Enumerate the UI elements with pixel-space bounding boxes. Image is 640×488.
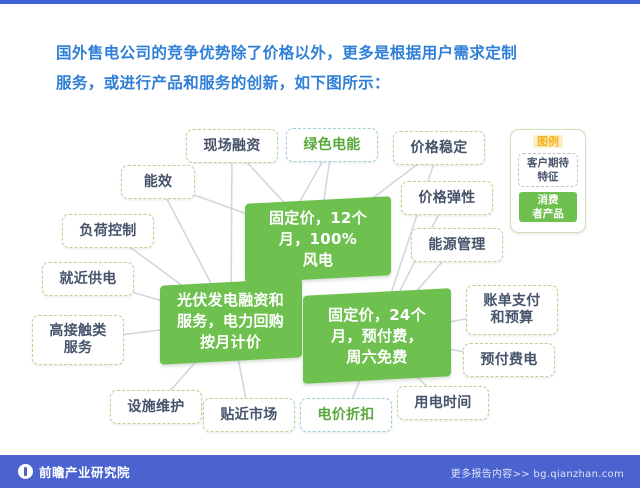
node-label: 设施维护 xyxy=(122,399,189,416)
legend-product-label: 消费者产品 xyxy=(532,193,564,221)
node-label: 固定价，24个月，预付费，周六免费 xyxy=(323,305,431,368)
node-label: 就近供电 xyxy=(54,271,121,288)
product-node[interactable]: 光伏发电融资和服务，电力回购按月计价 xyxy=(160,278,302,364)
expectation-node[interactable]: 预付费电 xyxy=(463,343,555,377)
header-line-1: 国外售电公司的竞争优势除了价格以外，更多是根据用户需求定制 xyxy=(56,38,596,68)
header-text: 国外售电公司的竞争优势除了价格以外，更多是根据用户需求定制 服务，或进行产品和服… xyxy=(56,38,596,98)
expectation-node[interactable]: 绿色电能 xyxy=(286,128,378,162)
node-label: 负荷控制 xyxy=(74,223,141,240)
node-label: 贴近市场 xyxy=(215,407,282,424)
legend-title: 图例 xyxy=(533,135,563,148)
legend-box: 图例 客户期待特征 消费者产品 xyxy=(510,129,586,233)
product-node[interactable]: 固定价，24个月，预付费，周六免费 xyxy=(303,288,451,384)
node-label: 现场融资 xyxy=(198,138,265,155)
legend-product-swatch: 消费者产品 xyxy=(519,192,577,222)
expectation-node[interactable]: 价格稳定 xyxy=(393,131,485,165)
concept-map-diagram: 现场融资绿色电能价格稳定能效价格弹性负荷控制能源管理就近供电账单支付和预算高接触… xyxy=(0,110,640,455)
qianzhan-logo-icon xyxy=(18,464,33,479)
node-label: 用电时间 xyxy=(409,395,476,412)
footer-brand-group: 前瞻产业研究院 xyxy=(18,462,130,481)
legend-expectation-label: 客户期待特征 xyxy=(527,156,569,184)
expectation-node[interactable]: 贴近市场 xyxy=(203,398,295,432)
header-line-2: 服务，或进行产品和服务的创新，如下图所示： xyxy=(56,68,596,98)
product-node[interactable]: 固定价，12个月，100%风电 xyxy=(245,196,391,283)
node-label: 预付费电 xyxy=(475,352,542,369)
node-label: 价格稳定 xyxy=(405,140,472,157)
node-label: 固定价，12个月，100%风电 xyxy=(264,208,372,271)
node-label: 电价折扣 xyxy=(312,407,379,424)
node-label: 能源管理 xyxy=(423,237,490,254)
expectation-node[interactable]: 能源管理 xyxy=(411,228,503,262)
node-label: 高接触类服务 xyxy=(44,323,111,357)
expectation-node[interactable]: 电价折扣 xyxy=(300,398,392,432)
expectation-node[interactable]: 能效 xyxy=(121,165,195,199)
expectation-node[interactable]: 用电时间 xyxy=(397,386,489,420)
header-banner: 国外售电公司的竞争优势除了价格以外，更多是根据用户需求定制 服务，或进行产品和服… xyxy=(0,4,640,110)
expectation-node[interactable]: 现场融资 xyxy=(186,129,278,163)
footer-brand-label: 前瞻产业研究院 xyxy=(39,462,130,481)
footer-bar: 前瞻产业研究院 更多报告内容>> bg.qianzhan.com xyxy=(0,455,640,488)
footer-more-link[interactable]: 更多报告内容>> bg.qianzhan.com xyxy=(451,465,624,480)
expectation-node[interactable]: 负荷控制 xyxy=(62,214,154,248)
expectation-node[interactable]: 账单支付和预算 xyxy=(466,285,558,335)
node-label: 绿色电能 xyxy=(298,137,365,154)
node-label: 账单支付和预算 xyxy=(478,293,545,327)
node-label: 光伏发电融资和服务，电力回购按月计价 xyxy=(172,290,289,353)
node-label: 价格弹性 xyxy=(413,190,480,207)
expectation-node[interactable]: 设施维护 xyxy=(110,390,202,424)
expectation-node[interactable]: 价格弹性 xyxy=(401,181,493,215)
legend-expectation-swatch: 客户期待特征 xyxy=(518,153,578,187)
node-label: 能效 xyxy=(139,174,178,191)
expectation-node[interactable]: 高接触类服务 xyxy=(32,315,124,365)
expectation-node[interactable]: 就近供电 xyxy=(42,262,134,296)
